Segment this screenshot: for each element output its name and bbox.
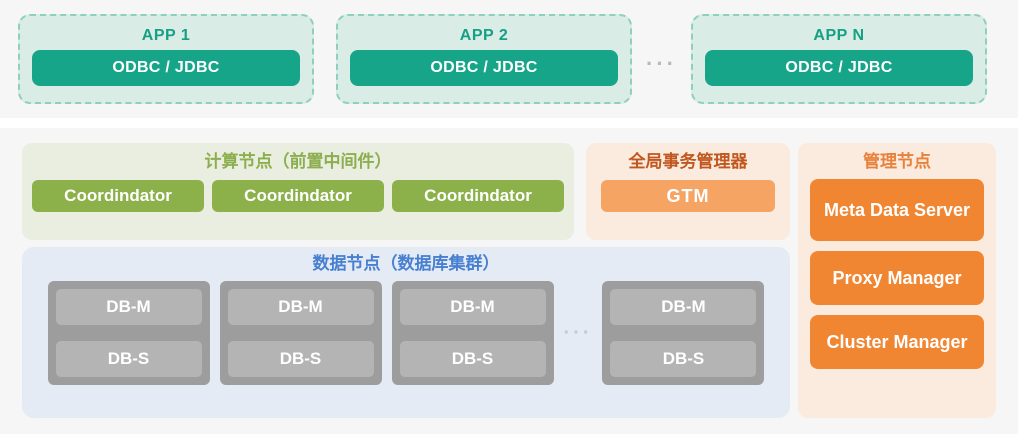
db-slave-chip[interactable]: DB-S	[228, 341, 374, 377]
application-band: APP 1 ODBC / JDBC APP 2 ODBC / JDBC ··· …	[0, 0, 1018, 118]
gtm-title: 全局事务管理器	[629, 151, 748, 173]
db-master-chip[interactable]: DB-M	[610, 289, 756, 325]
cluster-band: 计算节点（前置中间件） Coordindator Coordindator Co…	[0, 128, 1018, 434]
db-ellipsis-icon: ···	[564, 323, 593, 343]
coordinator-node-3[interactable]: Coordindator	[392, 180, 564, 212]
app-connector-chip[interactable]: ODBC / JDBC	[350, 50, 618, 86]
data-node-panel: 数据节点（数据库集群） DB-M DB-S DB-M DB-S DB-M DB-…	[22, 247, 790, 418]
coordinator-node-2[interactable]: Coordindator	[212, 180, 384, 212]
meta-data-server-node[interactable]: Meta Data Server	[810, 179, 984, 241]
app-card-title: APP 2	[460, 28, 508, 44]
coordinator-row: Coordindator Coordindator Coordindator	[32, 180, 564, 212]
architecture-diagram: APP 1 ODBC / JDBC APP 2 ODBC / JDBC ··· …	[0, 0, 1018, 434]
app-ellipsis-icon: ···	[632, 53, 691, 75]
gtm-node[interactable]: GTM	[601, 180, 775, 212]
management-node-title: 管理节点	[863, 151, 931, 173]
db-slave-chip[interactable]: DB-S	[400, 341, 546, 377]
db-group-1[interactable]: DB-M DB-S	[48, 281, 210, 385]
management-node-panel: 管理节点 Meta Data Server Proxy Manager Clus…	[798, 143, 996, 418]
coordinator-node-1[interactable]: Coordindator	[32, 180, 204, 212]
app-card-title: APP 1	[142, 28, 190, 44]
app-card-2[interactable]: APP 2 ODBC / JDBC	[336, 14, 632, 104]
app-card-n[interactable]: APP N ODBC / JDBC	[691, 14, 987, 104]
db-slave-chip[interactable]: DB-S	[56, 341, 202, 377]
cluster-manager-node[interactable]: Cluster Manager	[810, 315, 984, 369]
gtm-panel: 全局事务管理器 GTM	[586, 143, 790, 240]
app-card-title: APP N	[813, 28, 864, 44]
db-master-chip[interactable]: DB-M	[400, 289, 546, 325]
db-master-chip[interactable]: DB-M	[228, 289, 374, 325]
db-group-n[interactable]: DB-M DB-S	[602, 281, 764, 385]
db-slave-chip[interactable]: DB-S	[610, 341, 756, 377]
proxy-manager-node[interactable]: Proxy Manager	[810, 251, 984, 305]
compute-node-panel: 计算节点（前置中间件） Coordindator Coordindator Co…	[22, 143, 574, 240]
db-master-chip[interactable]: DB-M	[56, 289, 202, 325]
db-group-2[interactable]: DB-M DB-S	[220, 281, 382, 385]
app-connector-chip[interactable]: ODBC / JDBC	[32, 50, 300, 86]
data-node-title: 数据节点（数据库集群）	[313, 253, 500, 275]
database-group-row: DB-M DB-S DB-M DB-S DB-M DB-S ··· DB-M D…	[48, 281, 765, 385]
app-connector-chip[interactable]: ODBC / JDBC	[705, 50, 973, 86]
app-card-1[interactable]: APP 1 ODBC / JDBC	[18, 14, 314, 104]
db-group-3[interactable]: DB-M DB-S	[392, 281, 554, 385]
compute-node-title: 计算节点（前置中间件）	[205, 151, 392, 173]
